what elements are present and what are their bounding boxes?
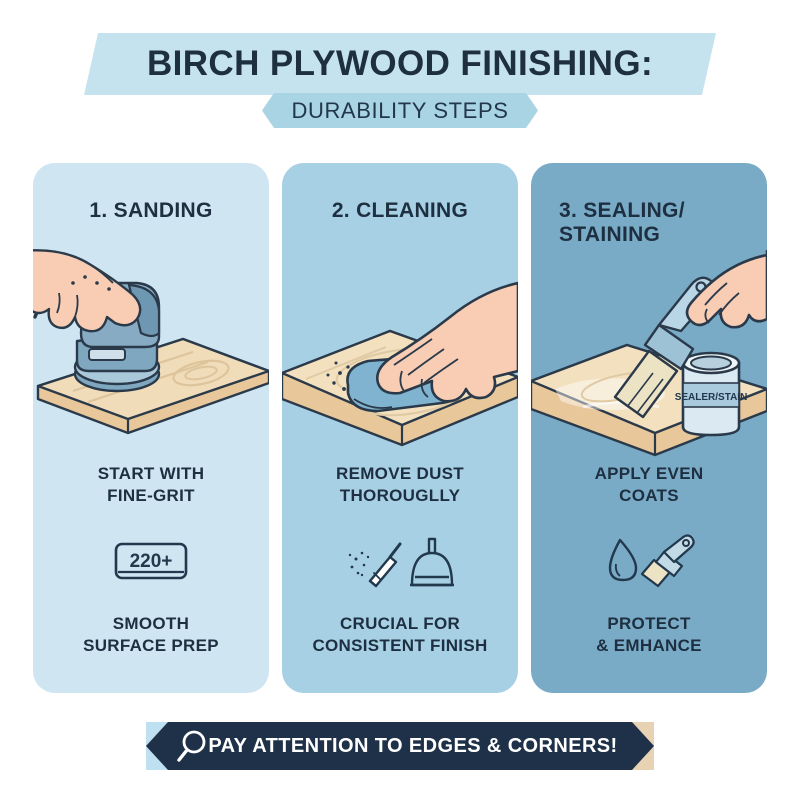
step-title-1: 1. SANDING xyxy=(89,199,212,223)
step-footer-3: PROTECT& EMHANCE xyxy=(531,613,767,657)
page-title: BIRCH PLYWOOD FINISHING: xyxy=(147,44,653,84)
sandpaper-sheet-icon: 220+ xyxy=(33,533,269,593)
subtitle-banner: DURABILITY STEPS xyxy=(262,93,538,128)
brush-and-dustpan-icon xyxy=(282,533,518,593)
page-subtitle: DURABILITY STEPS xyxy=(291,98,508,124)
step-title-2: 2. CLEANING xyxy=(332,199,468,223)
illustration-sanding xyxy=(33,221,269,461)
steps-container: 1. SANDING xyxy=(33,163,767,693)
bottom-banner-wrap: PAY ATTENTION TO EDGES & CORNERS! xyxy=(146,722,654,770)
step-copy-1: START WITHFINE-GRIT xyxy=(33,463,269,507)
droplet-and-paintbrush-icon xyxy=(531,533,767,593)
title-banner: BIRCH PLYWOOD FINISHING: xyxy=(84,33,716,95)
step-footer-1: SMOOTHSURFACE PREP xyxy=(33,613,269,657)
magnifier-icon xyxy=(176,729,212,763)
illustration-sealing: SEALER/STAIN xyxy=(531,221,767,461)
step-panel-sanding: 1. SANDING xyxy=(33,163,269,693)
sandpaper-grit-label: 220+ xyxy=(130,551,173,572)
step-panel-cleaning: 2. CLEANING xyxy=(282,163,518,693)
step-title-3: 3. SEALING/STAINING xyxy=(559,199,685,247)
header: BIRCH PLYWOOD FINISHING: DURABILITY STEP… xyxy=(0,0,800,140)
illustration-cleaning xyxy=(282,221,518,461)
tip-banner: PAY ATTENTION TO EDGES & CORNERS! xyxy=(146,722,654,770)
tip-text: PAY ATTENTION TO EDGES & CORNERS! xyxy=(208,735,617,758)
step-copy-2: REMOVE DUSTTHOROUGLLY xyxy=(282,463,518,507)
sealer-can-label: SEALER/STAIN xyxy=(675,392,748,403)
step-footer-2: CRUCIAL FORCONSISTENT FINISH xyxy=(282,613,518,657)
step-panel-sealing: 3. SEALING/STAINING xyxy=(531,163,767,693)
step-copy-3: APPLY EVENCOATS xyxy=(531,463,767,507)
